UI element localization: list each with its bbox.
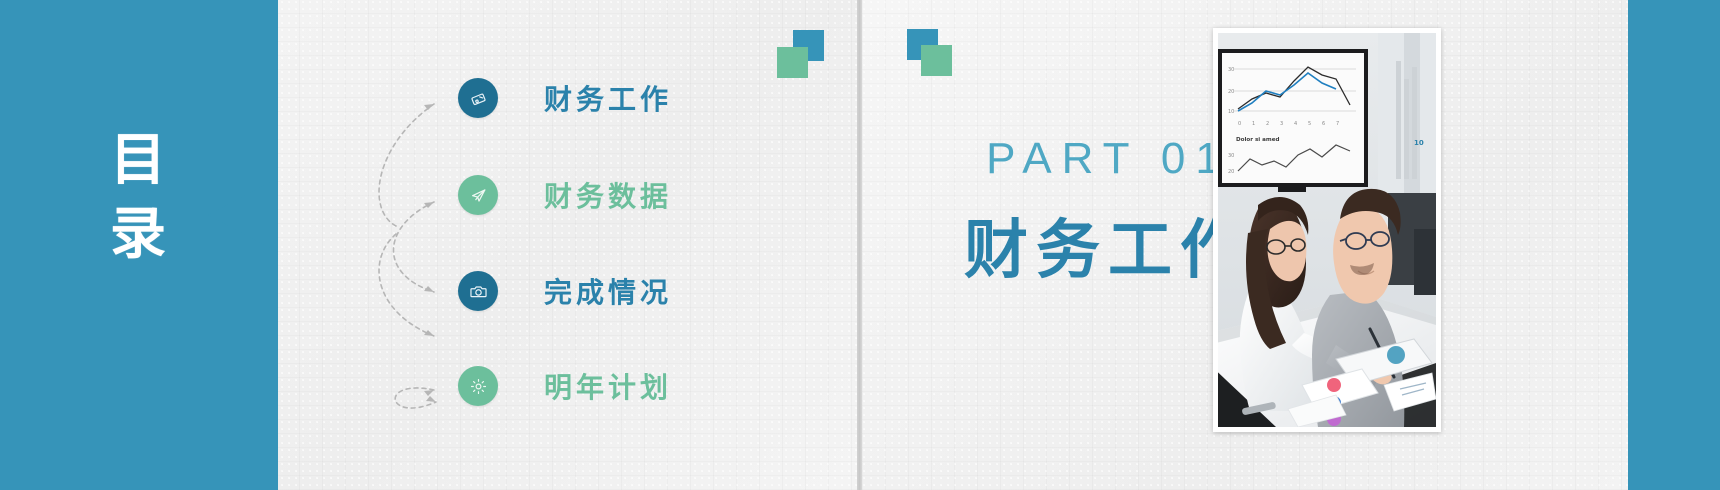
toc-item-1[interactable]: 财务工作: [458, 76, 672, 120]
svg-text:10: 10: [1414, 139, 1424, 147]
toc-item-1-label: 财务工作: [544, 78, 672, 118]
svg-text:6: 6: [1322, 121, 1325, 127]
slide-deck-canvas: 目 录: [0, 0, 1720, 490]
sidebar-arrow-triangle: [208, 178, 278, 252]
toc-item-2[interactable]: 财务数据: [458, 173, 672, 217]
toc-item-3-label: 完成情况: [544, 271, 672, 311]
gear-icon: [458, 366, 498, 406]
svg-text:4: 4: [1294, 121, 1297, 127]
svg-text:7: 7: [1336, 121, 1339, 127]
paper-plane-icon: [458, 175, 498, 215]
svg-text:30: 30: [1228, 67, 1234, 73]
right-decor-green-square: [921, 45, 952, 76]
toc-item-3[interactable]: 完成情况: [458, 269, 672, 313]
svg-text:0: 0: [1238, 121, 1241, 127]
svg-text:Dolor si amed: Dolor si amed: [1236, 137, 1280, 143]
toc-title-char-1: 目: [96, 124, 182, 198]
photo-frame: 30 20 10 012 345 67 Dolor si amed 30 20: [1213, 28, 1441, 432]
toc-item-4-label: 明年计划: [544, 366, 672, 406]
sidebar-arrow-notch: [278, 0, 348, 490]
right-accent-band: [1628, 0, 1720, 490]
left-decor-green-square: [777, 47, 808, 78]
svg-text:10: 10: [1228, 109, 1234, 115]
svg-text:20: 20: [1228, 169, 1234, 175]
toc-menu-list: 财务工作 财务数据 完成情况: [360, 60, 780, 440]
svg-text:5: 5: [1308, 121, 1311, 127]
toc-item-2-label: 财务数据: [544, 175, 672, 215]
toc-title: 目 录: [96, 124, 182, 272]
toc-item-4[interactable]: 明年计划: [458, 364, 672, 408]
svg-text:2: 2: [1266, 121, 1269, 127]
office-photo: 30 20 10 012 345 67 Dolor si amed 30 20: [1218, 33, 1436, 427]
office-photo-illustration: 30 20 10 012 345 67 Dolor si amed 30 20: [1218, 33, 1436, 427]
camera-icon: [458, 271, 498, 311]
toc-title-char-2: 录: [96, 198, 182, 272]
svg-text:1: 1: [1252, 121, 1255, 127]
tag-icon: [458, 78, 498, 118]
svg-text:3: 3: [1280, 121, 1283, 127]
svg-text:20: 20: [1228, 89, 1234, 95]
svg-text:30: 30: [1228, 153, 1234, 159]
